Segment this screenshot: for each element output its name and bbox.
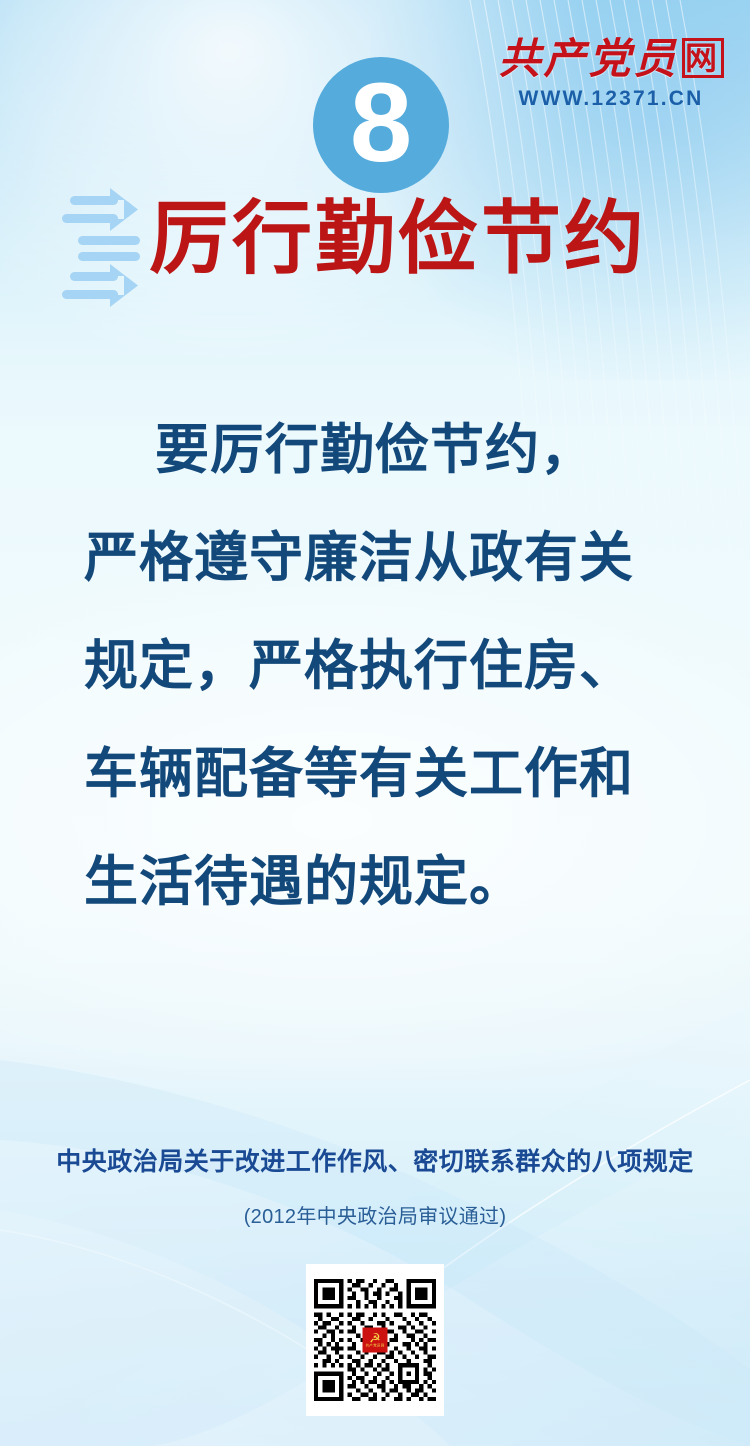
- logo-url: WWW.12371.CN: [496, 88, 726, 109]
- badge-number: 8: [350, 67, 412, 179]
- body-line: 要厉行勤俭节约，: [84, 396, 666, 504]
- emblem-symbol: ☭: [369, 1333, 381, 1344]
- body-line: 车辆配备等有关工作和: [84, 720, 666, 828]
- hammer-and-sickle-icon: ☭ 共产党员网: [363, 1328, 388, 1353]
- number-badge: 8: [313, 57, 449, 193]
- qr-code[interactable]: ☭ 共产党员网: [306, 1264, 444, 1416]
- site-logo[interactable]: 共产党员网 WWW.12371.CN: [496, 38, 726, 109]
- body-line: 生活待遇的规定。: [84, 828, 666, 936]
- qr-code-matrix: ☭ 共产党员网: [314, 1279, 436, 1401]
- logo-wordmark: 共产党员网: [496, 38, 726, 81]
- footer-title: 中央政治局关于改进工作作风、密切联系群众的八项规定: [0, 1142, 750, 1178]
- emblem-text: 共产党员网: [366, 1344, 385, 1349]
- logo-name-text: 共产党员: [498, 37, 678, 83]
- body-line: 严格遵守廉洁从政有关: [84, 504, 666, 612]
- footer-subtitle: (2012年中央政治局审议通过): [0, 1200, 750, 1229]
- poster-canvas: 共产党员网 WWW.12371.CN 8 厉行勤俭节约 要厉行勤俭节约， 严格遵…: [0, 0, 750, 1446]
- logo-boxed-char: 网: [682, 38, 724, 78]
- footer: 中央政治局关于改进工作作风、密切联系群众的八项规定 (2012年中央政治局审议通…: [0, 1142, 750, 1229]
- body-line: 规定，严格执行住房、: [84, 612, 666, 720]
- body-text-block: 要厉行勤俭节约， 严格遵守廉洁从政有关 规定，严格执行住房、 车辆配备等有关工作…: [0, 396, 750, 936]
- page-title: 厉行勤俭节约: [0, 199, 750, 279]
